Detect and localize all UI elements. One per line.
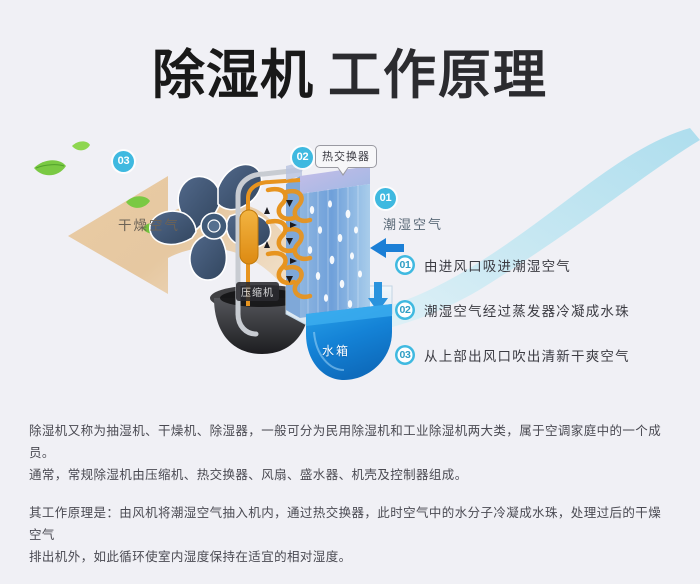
body-copy: 除湿机又称为抽湿机、干燥机、除湿器，一般可分为民用除湿机和工业除湿机两大类，属于… [29, 420, 671, 584]
infographic-page: 除湿机工作原理 [0, 0, 700, 566]
legend-text-02: 潮湿空气经过蒸发器冷凝成水珠 [424, 300, 630, 320]
legend-list: 01 由进风口吸进潮湿空气 02 潮湿空气经过蒸发器冷凝成水珠 03 从上部出风… [395, 254, 630, 389]
paragraph-2: 其工作原理是：由风机将潮湿空气抽入机内，通过热交换器，此时空气中的水分子冷凝成水… [29, 502, 671, 568]
diagram-badge-humid-air: 01 [375, 188, 396, 209]
leaf-icon [72, 141, 90, 150]
page-title-secondary: 工作原理 [328, 46, 548, 105]
diagram-label-compressor: 压缩机 [236, 282, 279, 301]
legend-badge-01: 01 [395, 255, 415, 275]
paragraph-2-line-1: 其工作原理是：由风机将潮湿空气抽入机内，通过热交换器，此时空气中的水分子冷凝成水… [29, 502, 671, 546]
legend-badge-03: 03 [395, 345, 415, 365]
page-title-primary: 除湿机 [152, 46, 314, 105]
diagram-label-water-tank: 水箱 [322, 342, 350, 359]
diagram-label-humid-air: 潮湿空气 [383, 214, 443, 233]
diagram-label-dry-air: 干燥空气 [118, 214, 180, 234]
paragraph-1-line-2: 通常，常规除湿机由压缩机、热交换器、风扇、盛水器、机壳及控制器组成。 [29, 464, 671, 486]
diagram-callout-heat-exchanger: 热交换器 [315, 145, 377, 168]
legend-text-03: 从上部出风口吹出清新干爽空气 [424, 345, 630, 365]
legend-item-01: 01 由进风口吸进潮湿空气 [395, 254, 630, 276]
paragraph-2-line-2: 排出机外，如此循环使室内湿度保持在适宜的相对湿度。 [29, 546, 671, 568]
page-title: 除湿机工作原理 [0, 33, 700, 109]
leaf-icon [34, 160, 66, 175]
legend-item-03: 03 从上部出风口吹出清新干爽空气 [395, 344, 630, 366]
paragraph-1: 除湿机又称为抽湿机、干燥机、除湿器，一般可分为民用除湿机和工业除湿机两大类，属于… [29, 420, 671, 486]
legend-item-02: 02 潮湿空气经过蒸发器冷凝成水珠 [395, 299, 630, 321]
diagram-badge-dry-air: 03 [113, 151, 134, 172]
legend-text-01: 由进风口吸进潮湿空气 [424, 255, 571, 275]
diagram-badge-heat-exchanger: 02 [292, 147, 313, 168]
paragraph-1-line-1: 除湿机又称为抽湿机、干燥机、除湿器，一般可分为民用除湿机和工业除湿机两大类，属于… [29, 420, 671, 464]
legend-badge-02: 02 [395, 300, 415, 320]
